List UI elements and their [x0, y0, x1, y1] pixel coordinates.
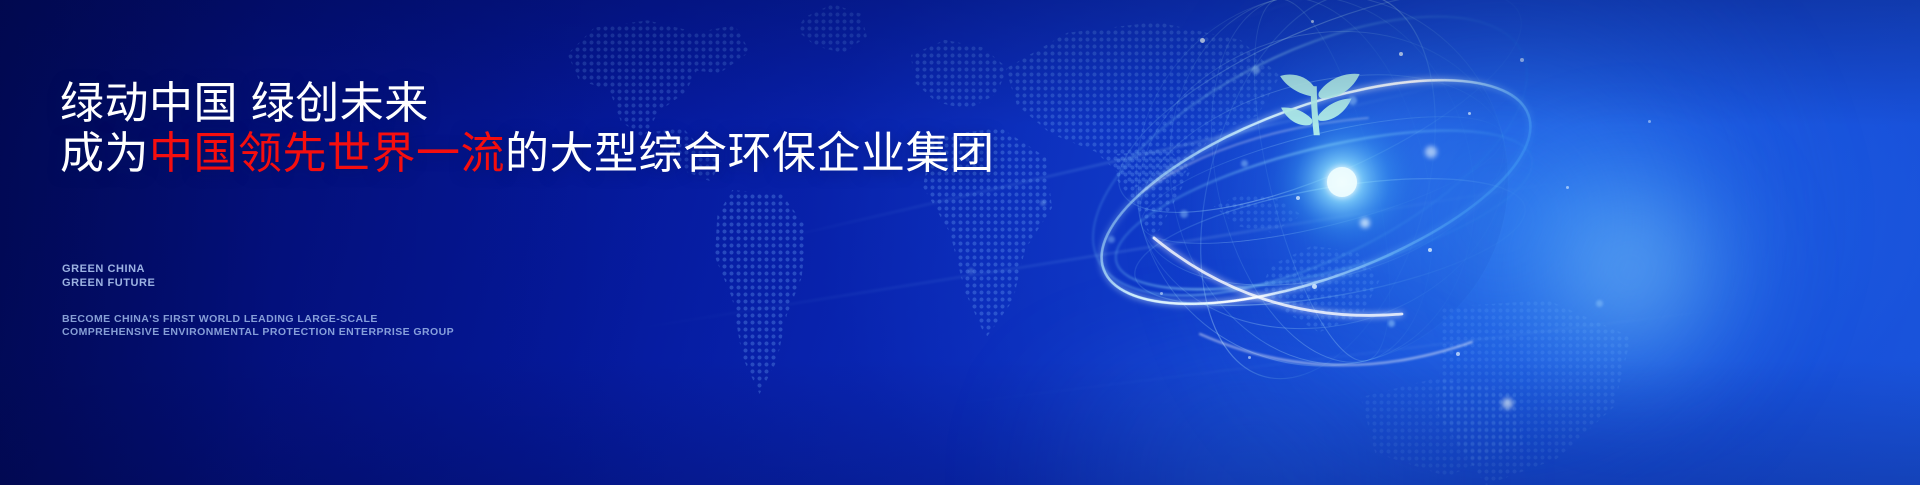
particle — [1160, 292, 1163, 295]
particle — [1348, 96, 1357, 105]
map-region-left-bleed — [1350, 378, 1530, 485]
light-sweep-4 — [1020, 0, 1686, 91]
headline-line-2: 成为中国领先世界一流的大型综合环保企业集团 — [60, 128, 995, 180]
headline-prefix: 成为 — [60, 129, 149, 178]
headline-highlight: 中国领先世界一流 — [149, 129, 505, 178]
hero-banner: 绿动中国 绿创未来 成为中国领先世界一流的大型综合环保企业集团 GREEN CH… — [0, 0, 1920, 485]
banner-copy: 绿动中国 绿创未来 成为中国领先世界一流的大型综合环保企业集团 GREEN CH… — [60, 0, 1060, 485]
orbit-highlights — [1142, 118, 1472, 365]
headline-line-1: 绿动中国 绿创未来 — [60, 78, 429, 130]
map-region-india — [1108, 150, 1194, 248]
orbit-ring-tertiary — [1052, 0, 1567, 353]
particle — [1180, 210, 1188, 218]
map-region-lower-right — [1420, 300, 1640, 485]
orbit-ring-high — [1092, 0, 1549, 256]
particle — [1311, 20, 1314, 23]
sprout-leaf-icon — [1280, 74, 1360, 136]
particle — [1648, 120, 1651, 123]
particle — [1425, 146, 1437, 158]
particle — [1312, 284, 1317, 289]
orbit-ring-low — [1126, 154, 1535, 329]
particle — [1456, 352, 1460, 356]
kicker-line-2: GREEN FUTURE — [62, 276, 155, 290]
particle — [1596, 300, 1603, 307]
map-region-australia — [1256, 244, 1382, 340]
orbit-ring-vertical — [1160, 0, 1477, 406]
particle — [1468, 112, 1471, 115]
ambient-glow-core — [1480, 120, 1780, 420]
globe-mesh — [1106, 0, 1538, 397]
globe-core-glow — [1264, 104, 1420, 260]
globe-sphere — [1136, 0, 1508, 366]
map-region-southeast-asia — [1210, 188, 1306, 250]
orbit-rings — [1052, 0, 1567, 406]
particle — [1428, 248, 1432, 252]
particle — [1360, 218, 1370, 228]
particle — [1241, 160, 1248, 167]
globe-core — [1327, 167, 1357, 197]
particle — [1399, 52, 1403, 56]
orbit-ring-primary — [1074, 34, 1558, 350]
particle — [1200, 38, 1205, 43]
kicker-line-1: GREEN CHINA — [62, 262, 145, 276]
particle — [1502, 398, 1513, 409]
wireframe-globe — [1080, 0, 1560, 422]
subline-line-1: BECOME CHINA'S FIRST WORLD LEADING LARGE… — [62, 313, 378, 327]
particle — [1520, 58, 1524, 62]
particle — [1108, 236, 1115, 243]
headline-line-1-text: 绿动中国 绿创未来 — [60, 79, 429, 128]
particle — [1252, 66, 1260, 74]
particle — [1248, 356, 1251, 359]
particle — [1388, 320, 1395, 327]
particle — [1296, 196, 1300, 200]
orbit-ring-secondary — [1101, 98, 1546, 322]
particle — [1566, 186, 1569, 189]
ambient-glow-right — [1180, 0, 1820, 485]
subline-line-2: COMPREHENSIVE ENVIRONMENTAL PROTECTION E… — [62, 326, 454, 340]
headline-suffix: 的大型综合环保企业集团 — [505, 129, 995, 178]
